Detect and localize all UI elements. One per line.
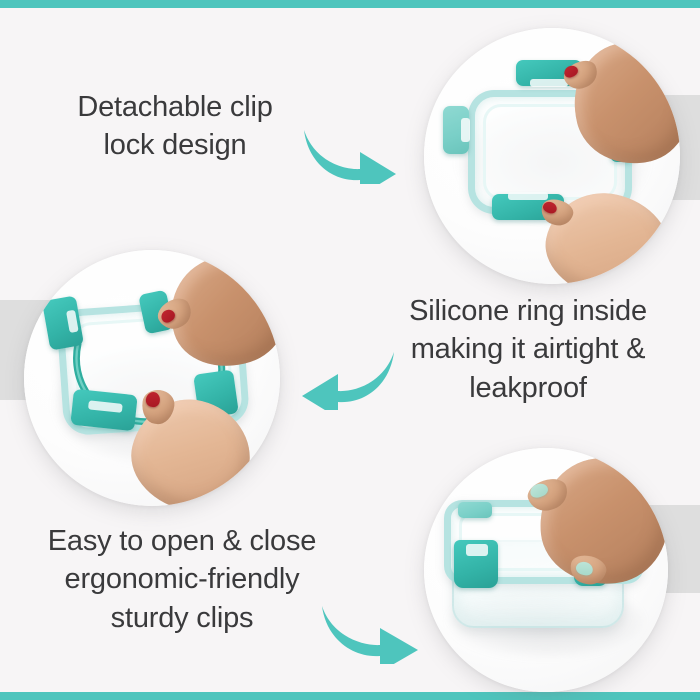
attached-clip-bottom — [70, 389, 137, 431]
caption-clip-lock: Detachable clip lock design — [50, 88, 300, 165]
clip-notch — [461, 118, 470, 142]
product-photo-silicone-ring — [24, 250, 280, 506]
engaged-clip-left — [454, 540, 498, 588]
product-photo-sturdy-clips — [424, 448, 668, 692]
clip-notch — [466, 544, 488, 556]
top-accent-bar — [0, 0, 700, 8]
caption-silicone-ring: Silicone ring inside making it airtight … — [372, 292, 684, 407]
product-photo-clip-lock — [424, 28, 680, 284]
clip-tab-left — [458, 502, 492, 518]
clip-notch — [66, 310, 79, 333]
curved-arrow-right-icon-clip-lock — [300, 122, 400, 184]
clip-notch — [508, 192, 548, 200]
attached-clip-left — [443, 106, 469, 154]
bottom-accent-bar — [0, 692, 700, 700]
caption-sturdy-clips: Easy to open & close ergonomic-friendly … — [24, 522, 340, 637]
clip-notch — [88, 400, 123, 413]
clip-notch — [530, 79, 568, 87]
infographic-canvas: Detachable clip lock design Silicone rin… — [0, 0, 700, 700]
